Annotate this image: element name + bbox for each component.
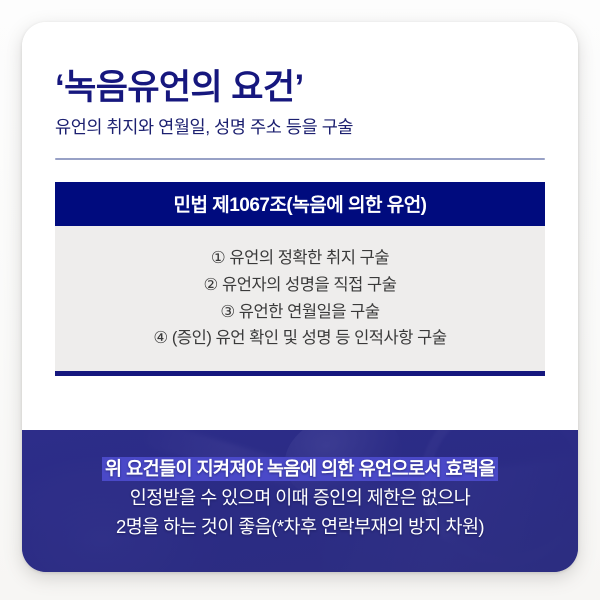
footer-highlighted-text: 위 요건들이 지켜져야 녹음에 의한 유언으로서 효력을 xyxy=(102,457,498,481)
list-item: ② 유언자의 성명을 직접 구술 xyxy=(65,272,535,299)
law-article-box: 민법 제1067조(녹음에 의한 유언) ① 유언의 정확한 취지 구술 ② 유… xyxy=(55,182,545,376)
law-article-header: 민법 제1067조(녹음에 의한 유언) xyxy=(55,182,545,226)
info-card: ‘녹음유언의 요건’ 유언의 취지와 연월일, 성명 주소 등을 구술 민법 제… xyxy=(22,22,578,572)
page-title: ‘녹음유언의 요건’ xyxy=(55,22,545,107)
footer-line-1: 위 요건들이 지켜져야 녹음에 의한 유언으로서 효력을 xyxy=(22,455,578,483)
footer-text-block: 위 요건들이 지켜져야 녹음에 의한 유언으로서 효력을 인정받을 수 있으며 … xyxy=(22,455,578,546)
list-item: ① 유언의 정확한 취지 구술 xyxy=(65,245,535,272)
footer-line-2: 인정받을 수 있으며 이때 증인의 제한은 없으나 xyxy=(22,484,578,512)
card-top-section: ‘녹음유언의 요건’ 유언의 취지와 연월일, 성명 주소 등을 구술 민법 제… xyxy=(22,22,578,430)
list-item: ④ (증인) 유언 확인 및 성명 등 인적사항 구술 xyxy=(65,325,535,352)
title-divider xyxy=(55,158,545,160)
law-requirement-list: ① 유언의 정확한 취지 구술 ② 유언자의 성명을 직접 구술 ③ 유언한 연… xyxy=(55,226,545,371)
footer-line-3: 2명을 하는 것이 좋음(*차후 연락부재의 방지 차원) xyxy=(22,513,578,541)
card-footer-band: 위 요건들이 지켜져야 녹음에 의한 유언으로서 효력을 인정받을 수 있으며 … xyxy=(22,430,578,572)
page-subtitle: 유언의 취지와 연월일, 성명 주소 등을 구술 xyxy=(55,107,545,139)
page-background: ‘녹음유언의 요건’ 유언의 취지와 연월일, 성명 주소 등을 구술 민법 제… xyxy=(0,0,600,600)
list-item: ③ 유언한 연월일을 구술 xyxy=(65,299,535,326)
